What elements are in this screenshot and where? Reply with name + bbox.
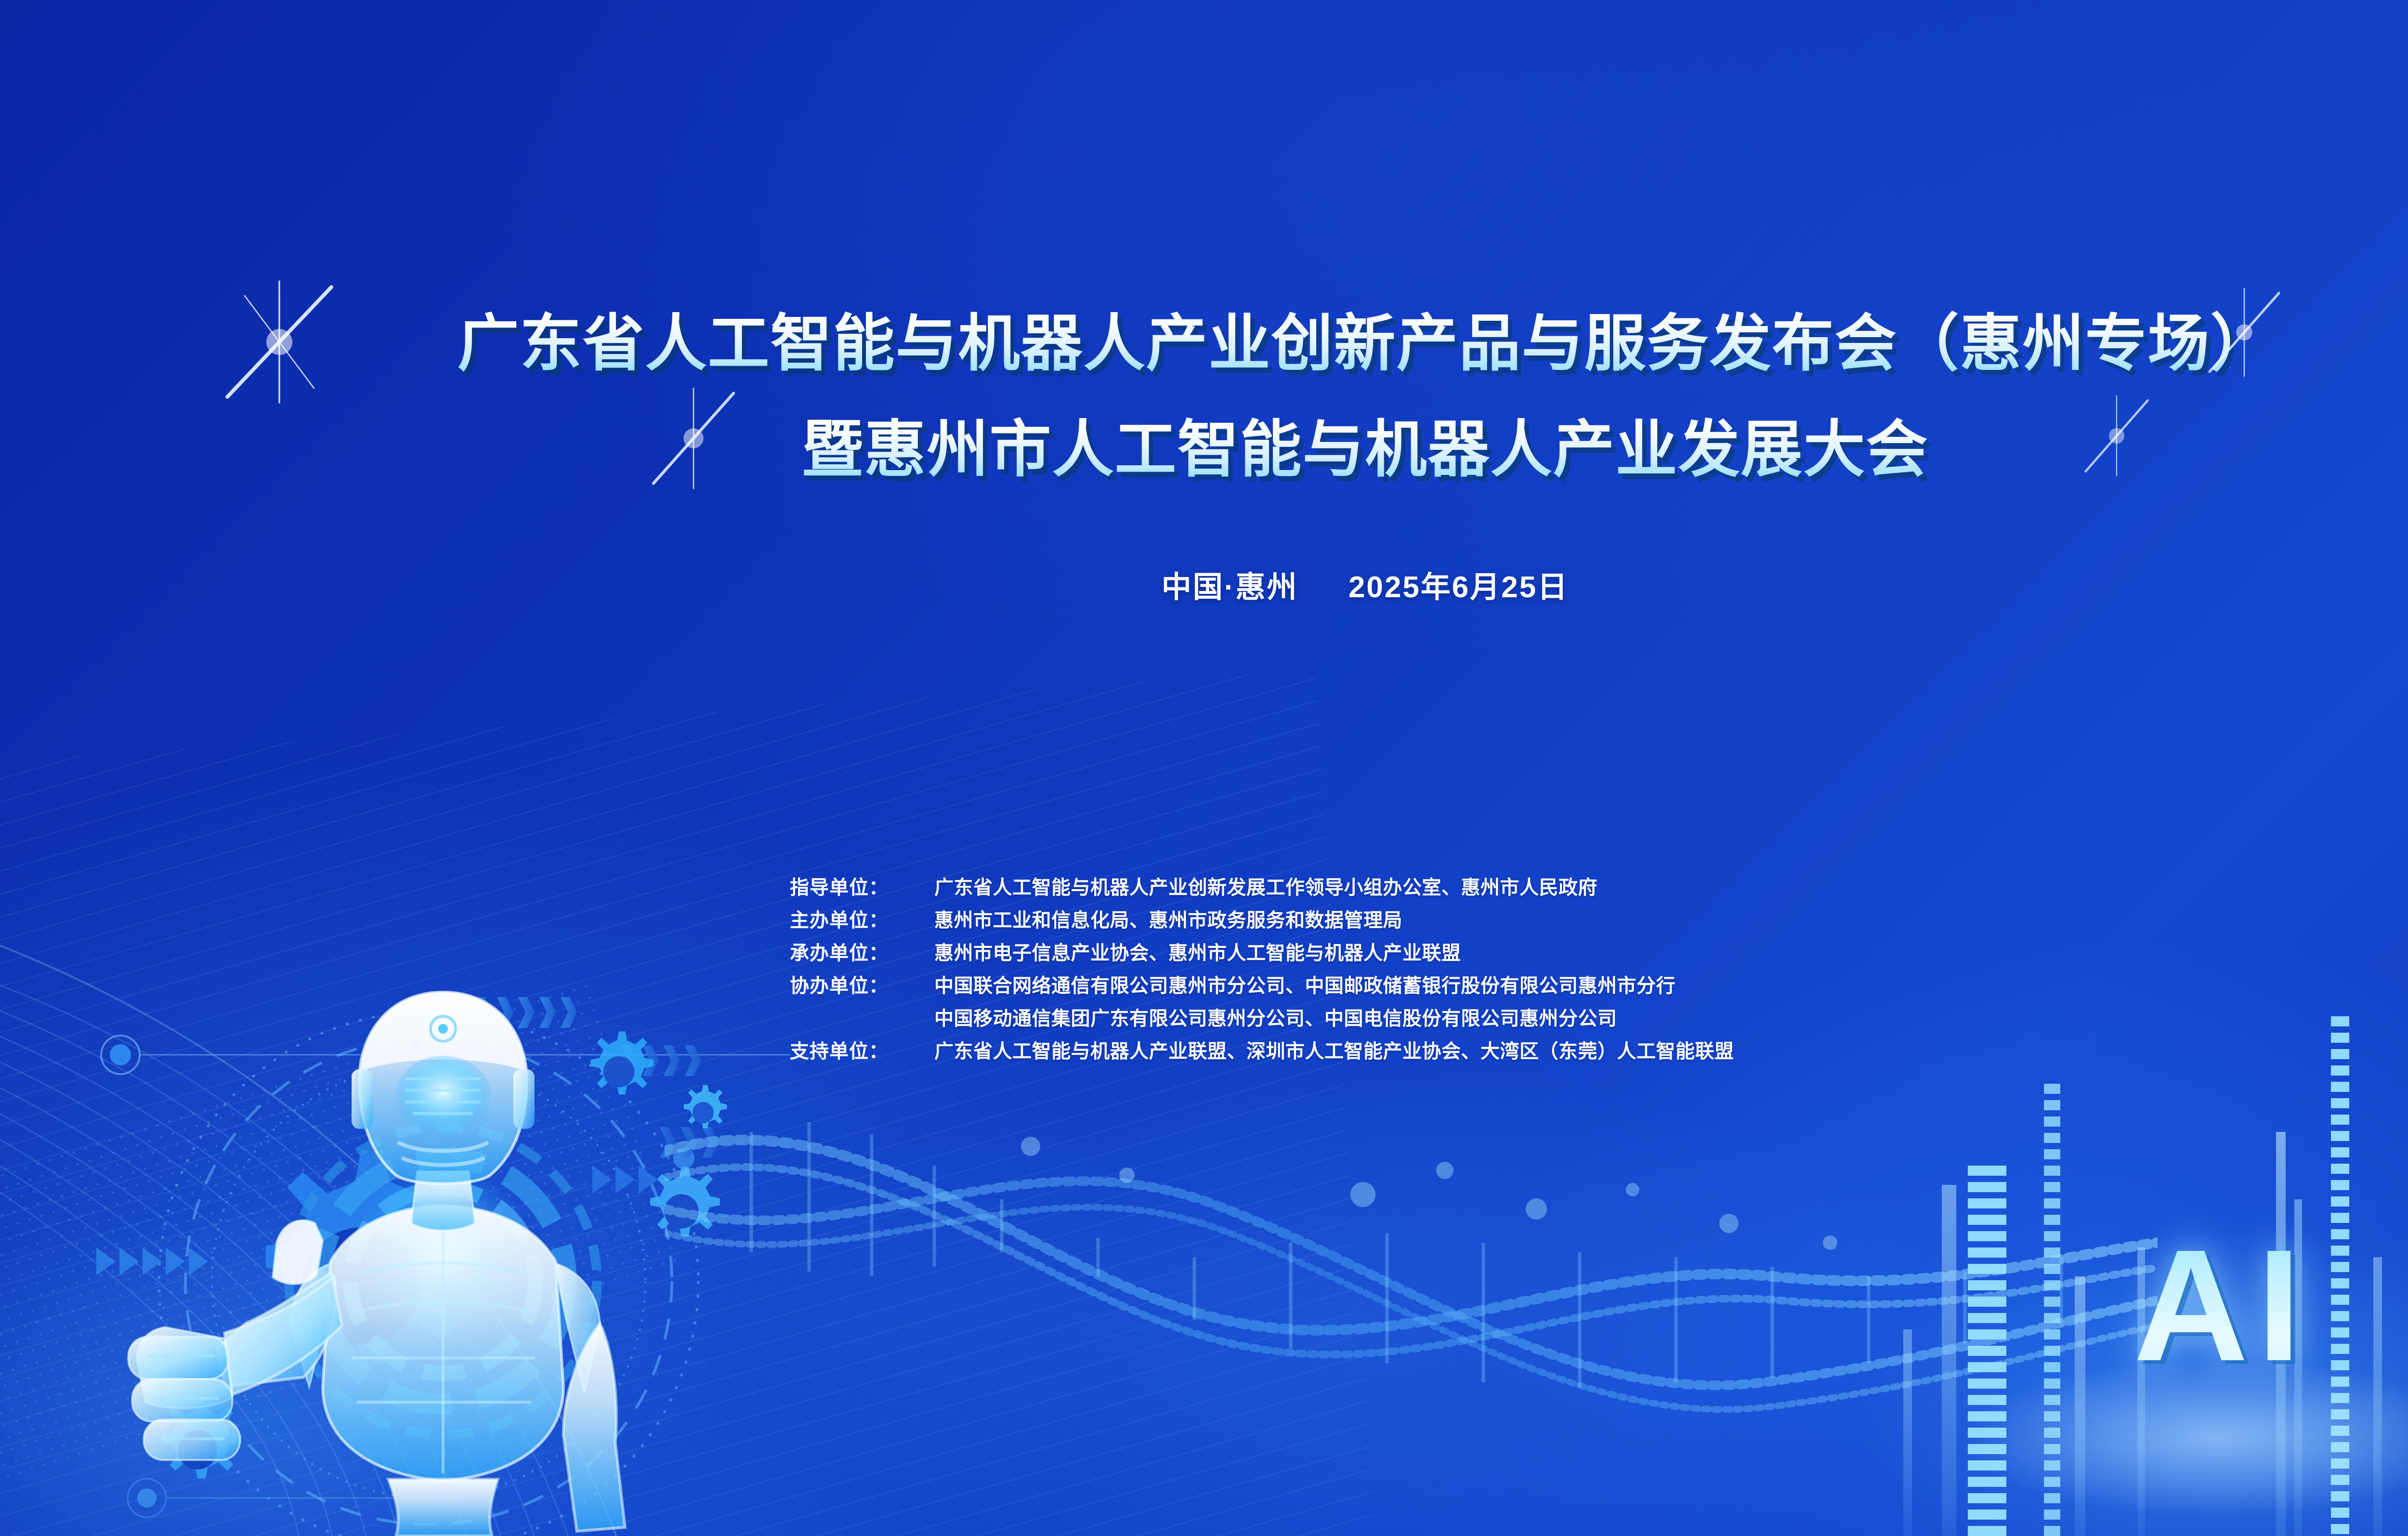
triangle-arrows-icon-mid [592, 1166, 658, 1194]
org-value: 中国联合网络通信有限公司惠州市分公司、中国邮政储蓄银行股份有限公司惠州市分行 [934, 970, 1675, 998]
org-label: 协办单位： [790, 970, 934, 998]
humanoid-robot-figure [111, 934, 766, 1536]
eq-bar [2373, 1257, 2382, 1536]
page-title-line-2: 暨惠州市人工智能与机器人产业发展大会 [0, 414, 2408, 486]
center-glow [722, 1060, 1975, 1536]
eq-bar [2044, 1084, 2060, 1536]
org-value: 广东省人工智能与机器人产业创新发展工作领导小组办公室、惠州市人民政府 [934, 872, 1597, 900]
org-value: 广东省人工智能与机器人产业联盟、深圳市人工智能产业协会、大湾区（东莞）人工智能联… [934, 1036, 1734, 1063]
node-connector-line [19, 1002, 838, 1098]
eq-bar [1942, 1185, 1956, 1536]
org-value: 惠州市工业和信息化局、惠州市政务服务和数据管理局 [934, 905, 1402, 932]
org-label: 承办单位： [790, 937, 934, 965]
eq-bar [2075, 1276, 2085, 1536]
chevron-arrows-icon-right2 [660, 1127, 719, 1158]
org-value: 惠州市电子信息产业协会、惠州市人工智能与机器人产业联盟 [934, 937, 1461, 965]
dot-grid-texture [0, 979, 679, 1486]
triangle-arrows-icon-left [96, 1247, 208, 1275]
location-date-line: 中国·惠州 2025年6月25日 [0, 563, 2408, 606]
eq-bar [1968, 1166, 2006, 1536]
org-row-organizer: 承办单位： 惠州市电子信息产业协会、惠州市人工智能与机器人产业联盟 [790, 937, 2186, 965]
tech-ring-arcs [63, 973, 785, 1536]
bottom-left-glow [0, 1204, 626, 1536]
org-row-host: 主办单位： 惠州市工业和信息化局、惠州市政务服务和数据管理局 [790, 905, 2186, 932]
gear-icon-small-left [140, 1392, 255, 1508]
organizations-block: 指导单位： 广东省人工智能与机器人产业创新发展工作领导小组办公室、惠州市人民政府… [790, 872, 2186, 1063]
page-title-line-1: 广东省人工智能与机器人产业创新产品与服务发布会（惠州专场） [0, 308, 2408, 380]
bottom-right-glow [1854, 1228, 2408, 1536]
org-row-coorganizer-continued: 协办单位： 中国移动通信集团广东有限公司惠州分公司、中国电信股份有限公司惠州分公… [790, 1003, 2186, 1031]
gear-icon-right-b [672, 1081, 734, 1144]
gear-icon-mid [631, 1161, 732, 1262]
location-text: 中国·惠州 [1162, 571, 1298, 604]
org-label: 主办单位： [790, 905, 934, 932]
eq-bar [2331, 1016, 2349, 1536]
org-label: 指导单位： [790, 872, 934, 900]
eq-bar [1903, 1329, 1912, 1536]
org-row-support: 支持单位： 广东省人工智能与机器人产业联盟、深圳市人工智能产业协会、大湾区（东莞… [790, 1036, 2186, 1063]
ai-wordmark: AI [2133, 1214, 2310, 1397]
diagonal-hairlines-texture [0, 670, 1378, 1536]
dna-wave-particles [665, 1050, 2158, 1536]
date-text: 2025年6月25日 [1348, 571, 1569, 604]
gear-icon-right-a [573, 1026, 665, 1117]
gear-icon-large [207, 1132, 515, 1440]
chevron-arrows-icon-right [621, 1045, 701, 1076]
chevron-arrows-icon [433, 997, 577, 1028]
org-label: 支持单位： [790, 1036, 934, 1063]
org-row-guidance: 指导单位： 广东省人工智能与机器人产业创新发展工作领导小组办公室、惠州市人民政府 [790, 872, 2186, 900]
org-row-coorganizer: 协办单位： 中国联合网络通信有限公司惠州市分公司、中国邮政储蓄银行股份有限公司惠… [790, 970, 2186, 998]
org-value: 中国移动通信集团广东有限公司惠州分公司、中国电信股份有限公司惠州分公司 [934, 1003, 1617, 1031]
poster-canvas: AI 广东省人工智能与机器人产业创新产品与服务发布会（惠州专场） 暨惠州市人工智… [0, 0, 2408, 1536]
